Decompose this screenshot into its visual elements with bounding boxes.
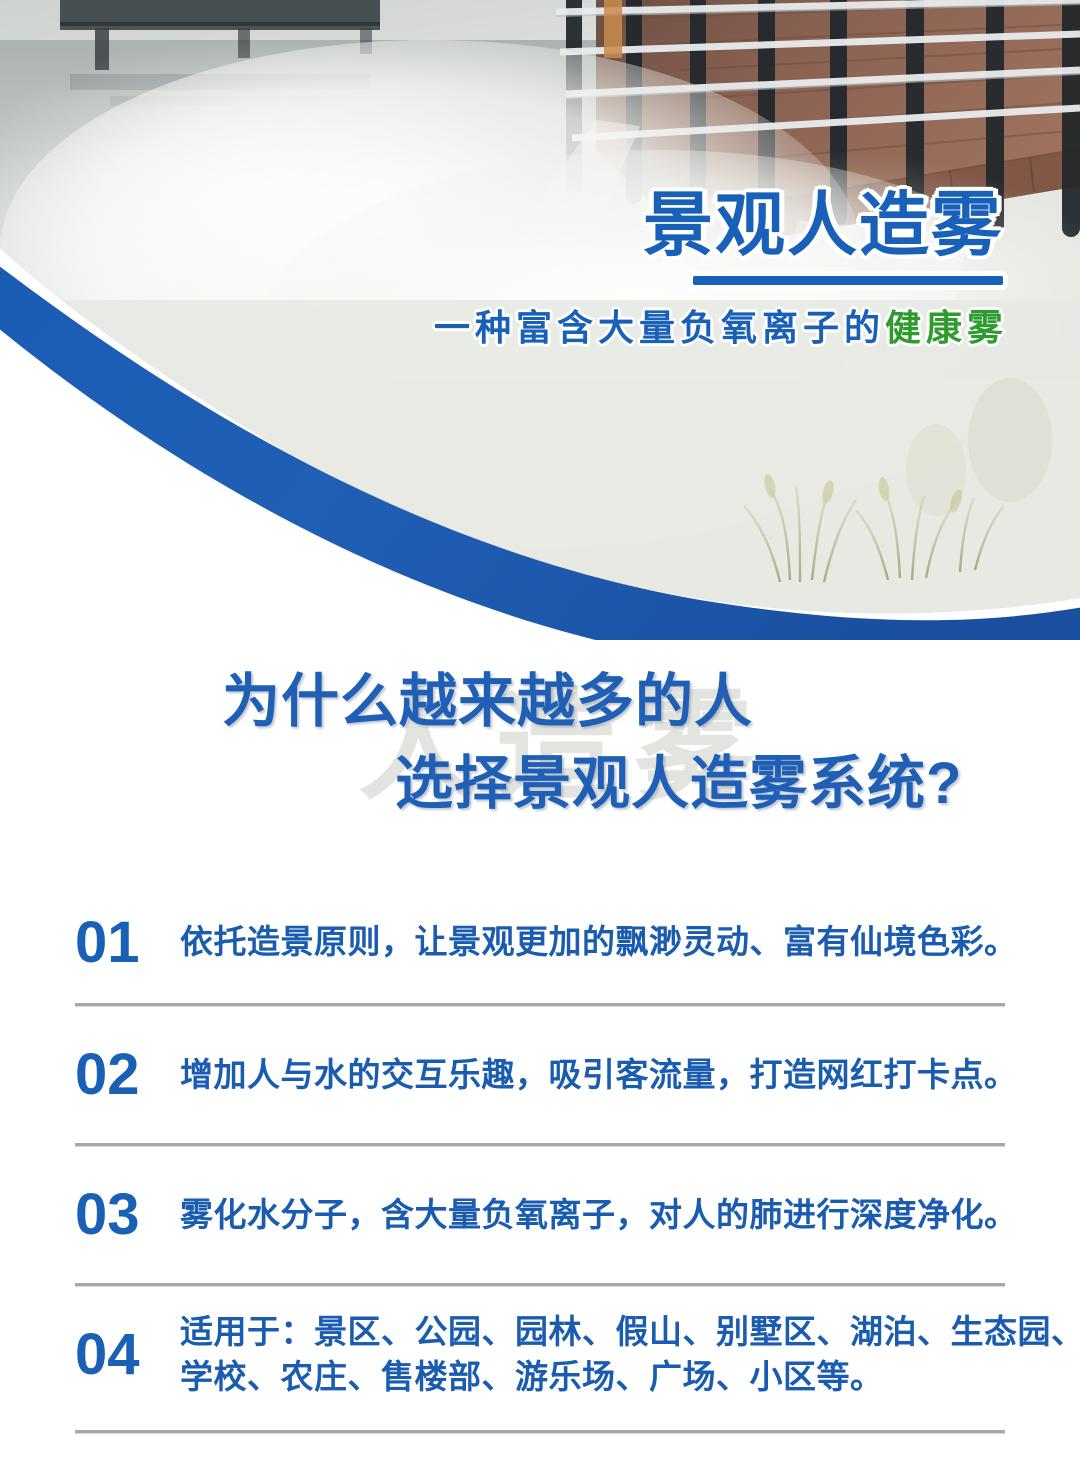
feature-text: 适用于：景区、公园、园林、假山、别墅区、湖泊、生态园、 学校、农庄、售楼部、游乐… <box>180 1310 1080 1399</box>
feature-text-line: 依托造景原则，让景观更加的飘渺灵动、富有仙境色彩。 <box>180 920 1018 965</box>
feature-row: 01 依托造景原则，让景观更加的飘渺灵动、富有仙境色彩。 <box>0 880 1080 1005</box>
feature-list: 01 依托造景原则，让景观更加的飘渺灵动、富有仙境色彩。 02 增加人与水的交互… <box>0 880 1080 1425</box>
feature-row: 04 适用于：景区、公园、园林、假山、别墅区、湖泊、生态园、 学校、农庄、售楼部… <box>0 1285 1080 1425</box>
feature-text-line: 增加人与水的交互乐趣，吸引客流量，打造网红打卡点。 <box>180 1053 1018 1098</box>
feature-row: 02 增加人与水的交互乐趣，吸引客流量，打造网红打卡点。 <box>0 1005 1080 1145</box>
feature-row: 03 雾化水分子，含大量负氧离子，对人的肺进行深度净化。 <box>0 1145 1080 1285</box>
feature-text-line: 适用于：景区、公园、园林、假山、别墅区、湖泊、生态园、 <box>180 1310 1080 1355</box>
section-heading-line-2: 选择景观人造雾系统? <box>0 755 1080 813</box>
feature-text-line: 学校、农庄、售楼部、游乐场、广场、小区等。 <box>180 1355 1080 1400</box>
feature-number: 01 <box>75 914 180 972</box>
feature-divider <box>75 1430 1005 1434</box>
hero-section: 景观人造雾 一种富含大量负氧离子的健康雾 <box>0 0 1080 640</box>
hero-photo <box>0 0 1080 640</box>
section-heading: 人造雾 为什么越来越多的人 选择景观人造雾系统? <box>0 655 1080 845</box>
feature-text: 雾化水分子，含大量负氧离子，对人的肺进行深度净化。 <box>180 1193 1018 1238</box>
feature-number: 02 <box>75 1046 180 1104</box>
feature-text: 增加人与水的交互乐趣，吸引客流量，打造网红打卡点。 <box>180 1053 1018 1098</box>
feature-text: 依托造景原则，让景观更加的飘渺灵动、富有仙境色彩。 <box>180 920 1018 965</box>
section-heading-line-1: 为什么越来越多的人 <box>0 673 1080 731</box>
feature-number: 03 <box>75 1186 180 1244</box>
feature-text-line: 雾化水分子，含大量负氧离子，对人的肺进行深度净化。 <box>180 1193 1018 1238</box>
feature-number: 04 <box>75 1326 180 1384</box>
poster-page: 景观人造雾 一种富含大量负氧离子的健康雾 人造雾 为什么越来越多的人 选择景观人… <box>0 0 1080 1481</box>
